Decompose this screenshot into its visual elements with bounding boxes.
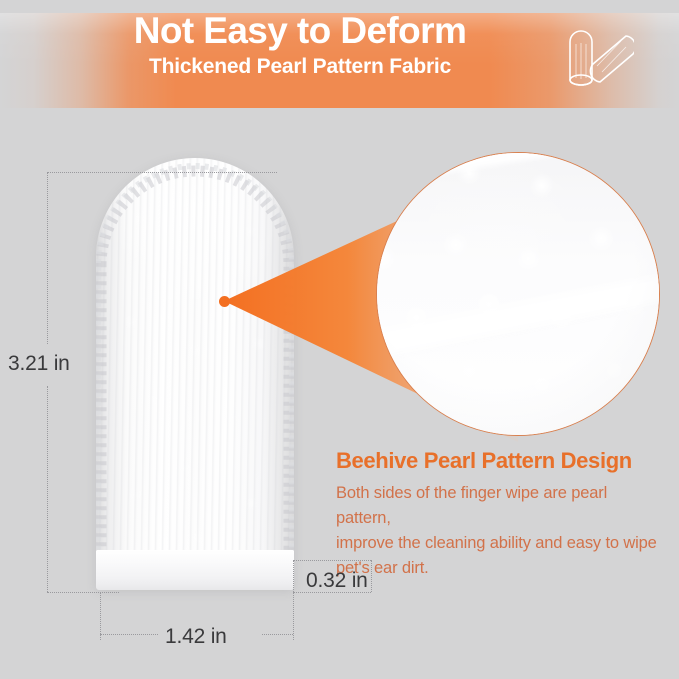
banner-subtitle: Thickened Pearl Pattern Fabric (0, 54, 600, 80)
width-tick-left (100, 592, 101, 640)
product-fiber-texture (96, 158, 294, 590)
width-dimension-label: 1.42 in (165, 625, 227, 649)
finger-wipe-pair-icon (558, 22, 634, 92)
pearl-texture-magnifier (376, 152, 660, 436)
height-dimension-line-bottom (47, 386, 48, 592)
thickness-dimension-label: 0.32 in (306, 569, 368, 593)
product-infographic: Not Easy to Deform Thickened Pearl Patte… (0, 0, 679, 679)
product-image (96, 158, 294, 590)
product-cuff-band (96, 550, 294, 590)
description-line-2: improve the cleaning ability and easy to… (336, 531, 666, 556)
description-line-3: pet's ear dirt. (336, 556, 666, 581)
magnifier-origin-dot (219, 296, 230, 307)
description-line-1: Both sides of the finger wipe are pearl … (336, 481, 666, 531)
height-tick-bottom (47, 592, 119, 593)
width-tick-right (293, 560, 294, 640)
thickness-line-top (293, 560, 371, 561)
width-dimension-line-left (100, 634, 158, 635)
width-dimension-line-right (262, 634, 293, 635)
description-body: Both sides of the finger wipe are pearl … (336, 481, 666, 581)
magnifier-vignette (377, 153, 660, 436)
height-tick-top (47, 172, 277, 173)
height-dimension-line-top (47, 172, 48, 344)
banner-title: Not Easy to Deform (0, 10, 600, 52)
height-dimension-label: 3.21 in (8, 352, 70, 376)
description-heading: Beehive Pearl Pattern Design (336, 448, 676, 474)
thickness-tick-right (371, 560, 372, 592)
